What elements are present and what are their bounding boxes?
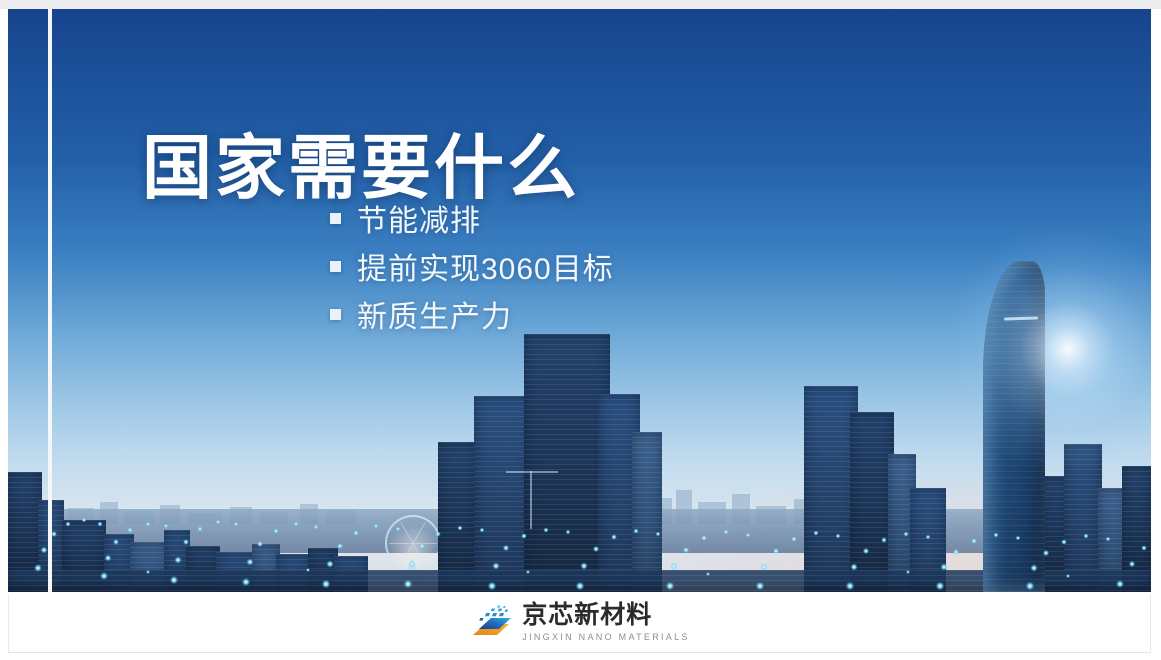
list-item-label: 提前实现3060目标 — [357, 244, 614, 288]
bullet-list: 节能减排 提前实现3060目标 新质生产力 — [330, 194, 614, 338]
logo-name-cn: 京芯新材料 — [522, 603, 689, 629]
list-item-label: 新质生产力 — [357, 292, 512, 336]
logo-wordmark: 京芯新材料 JINGXIN NANO MATERIALS — [522, 603, 689, 642]
slide-footer: 京芯新材料 JINGXIN NANO MATERIALS — [8, 594, 1151, 652]
list-item-label: 节能减排 — [357, 196, 481, 240]
footer-left-rule — [8, 594, 9, 652]
footer-bottom-rule — [8, 652, 1151, 653]
company-logo: 京芯新材料 JINGXIN NANO MATERIALS — [469, 603, 689, 642]
city-skyline — [8, 339, 1151, 592]
list-item: 提前实现3060目标 — [330, 242, 614, 290]
list-item: 新质生产力 — [330, 290, 614, 338]
square-bullet-icon — [330, 213, 341, 224]
jingxin-logo-mark-icon — [469, 605, 513, 641]
logo-name-en: JINGXIN NANO MATERIALS — [522, 632, 689, 643]
left-accent-divider — [48, 9, 52, 592]
square-bullet-icon — [330, 261, 341, 272]
construction-crane-jib — [506, 471, 558, 473]
top-margin-band — [0, 0, 1161, 9]
skyscraper-tower-icon — [983, 261, 1045, 592]
list-item: 节能减排 — [330, 194, 614, 242]
slide-canvas: 国家需要什么 节能减排 提前实现3060目标 新质生产力 — [0, 0, 1161, 660]
construction-crane-icon — [530, 471, 532, 529]
footer-right-rule — [1150, 594, 1151, 652]
square-bullet-icon — [330, 309, 341, 320]
